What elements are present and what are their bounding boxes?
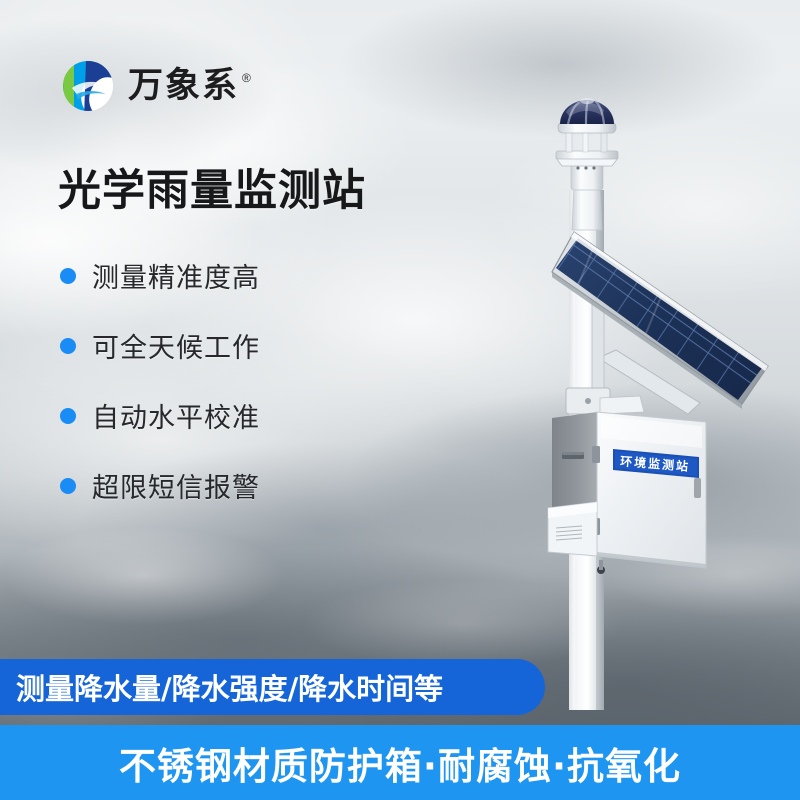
feature-item: 可全天候工作 bbox=[60, 326, 260, 365]
brand-name: 万象系 bbox=[128, 69, 239, 104]
measurement-banner: 测量降水量/降水强度/降水时间等 bbox=[0, 659, 545, 715]
feature-item: 测量精准度高 bbox=[60, 256, 260, 295]
bullet-dot-icon bbox=[60, 338, 76, 354]
bottom-feature-bar: 不锈钢材质防护箱·耐腐蚀·抗氧化 bbox=[0, 725, 800, 800]
bullet-dot-icon bbox=[60, 268, 76, 284]
feature-label: 自动水平校准 bbox=[92, 396, 260, 435]
trademark-symbol: ® bbox=[242, 71, 251, 85]
globe-swirl-logo-icon bbox=[60, 58, 116, 114]
feature-label: 可全天候工作 bbox=[92, 326, 260, 365]
feature-label: 超限短信报警 bbox=[92, 466, 260, 505]
feature-label: 测量精准度高 bbox=[92, 256, 260, 295]
page-title: 光学雨量监测站 bbox=[58, 168, 366, 215]
feature-list: 测量精准度高 可全天候工作 自动水平校准 超限短信报警 bbox=[60, 256, 260, 505]
bullet-dot-icon bbox=[60, 478, 76, 494]
feature-item: 超限短信报警 bbox=[60, 466, 260, 505]
product-poster: 万象系 ® 光学雨量监测站 测量精准度高 可全天候工作 自动水平校准 超限短信报… bbox=[0, 0, 800, 800]
measurement-banner-text: 测量降水量/降水强度/降水时间等 bbox=[16, 666, 443, 708]
bullet-dot-icon bbox=[60, 408, 76, 424]
brand-logo: 万象系 ® bbox=[60, 58, 251, 114]
bottom-feature-text: 不锈钢材质防护箱·耐腐蚀·抗氧化 bbox=[119, 736, 681, 790]
feature-item: 自动水平校准 bbox=[60, 396, 260, 435]
